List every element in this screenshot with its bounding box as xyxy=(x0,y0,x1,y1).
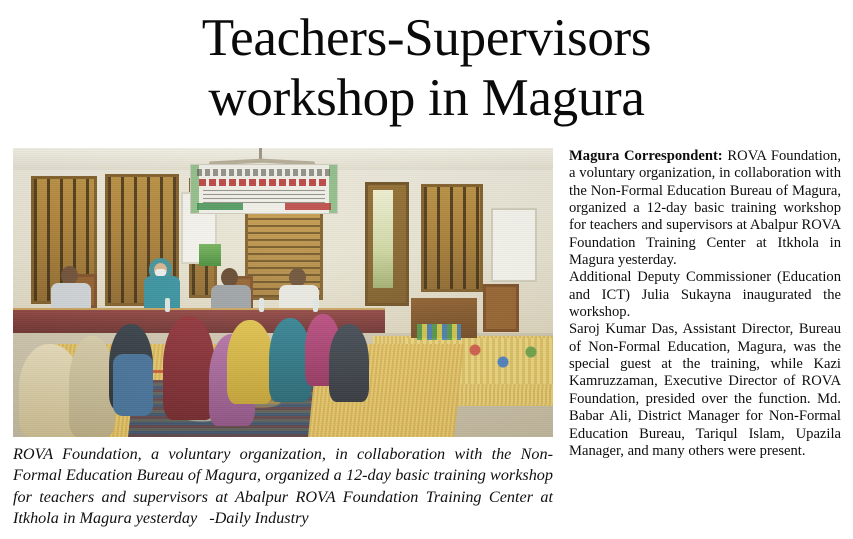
page-title: Teachers-Supervisors workshop in Magura xyxy=(60,8,793,128)
banner-footer-right xyxy=(285,203,331,210)
newspaper-clipping: Teachers-Supervisors workshop in Magura xyxy=(0,0,853,539)
article-paragraph-1-text: ROVA Foundation, a voluntary organizatio… xyxy=(569,148,841,268)
article-paragraph-3: Saroj Kumar Das, Assistant Director, Bur… xyxy=(569,321,841,460)
event-banner xyxy=(190,164,338,214)
article-byline: Magura Correspondent: xyxy=(569,148,723,164)
water-bottle-3 xyxy=(313,298,318,312)
article-paragraph-2: Additional Deputy Commissioner (Educatio… xyxy=(569,269,841,321)
water-bottle-2 xyxy=(259,298,264,312)
banner-footer-left xyxy=(197,203,243,210)
participant-left-3-dress xyxy=(113,354,153,416)
participant-left-6 xyxy=(227,320,273,404)
water-bottle-1 xyxy=(165,298,170,312)
banner-header-text xyxy=(197,169,331,176)
wall-poster xyxy=(199,244,221,266)
whiteboard-right xyxy=(491,208,537,282)
participant-left-4 xyxy=(163,316,215,420)
participant-left-9 xyxy=(329,324,369,402)
headline-line-1: Teachers-Supervisors xyxy=(60,8,793,68)
doorway-daylight xyxy=(373,190,393,288)
caption-credit: -Daily Industry xyxy=(201,509,308,527)
window-right xyxy=(421,184,483,292)
article-body: Magura Correspondent: ROVA Foundation, a… xyxy=(569,148,841,460)
photo-caption: ROVA Foundation, a voluntary organizatio… xyxy=(13,444,553,530)
photo-scene xyxy=(13,148,553,437)
materials-on-floor xyxy=(417,324,461,340)
side-chair xyxy=(483,284,519,332)
banner-title-text xyxy=(199,179,329,186)
headline-line-2: workshop in Magura xyxy=(60,68,793,128)
article-photo xyxy=(13,148,553,437)
banner-body-text xyxy=(203,189,325,203)
article-paragraph-1: Magura Correspondent: ROVA Foundation, a… xyxy=(569,148,841,269)
speaker-face-mask xyxy=(155,269,166,276)
